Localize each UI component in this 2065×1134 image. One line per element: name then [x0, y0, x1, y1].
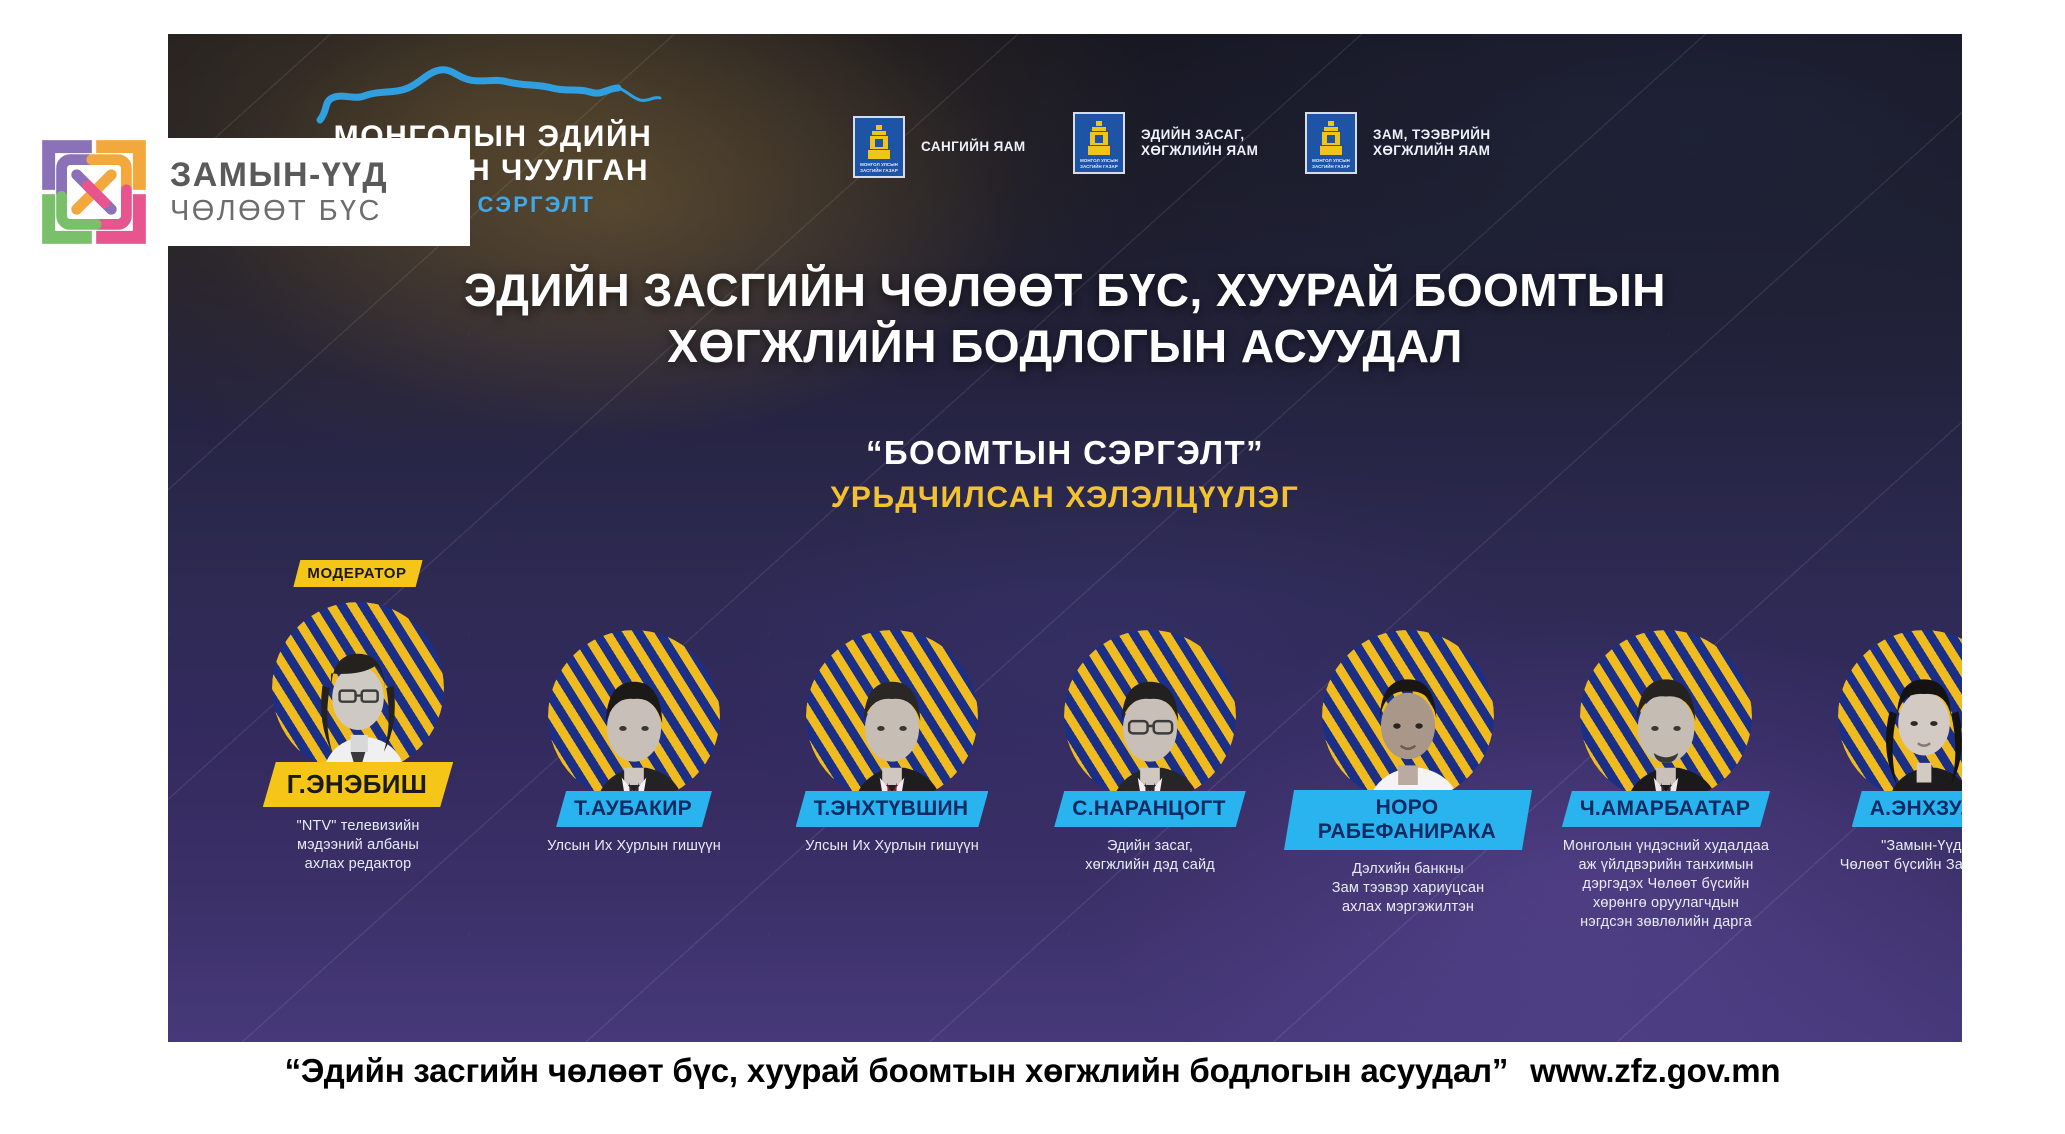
- speaker-photo: [548, 630, 720, 802]
- ministry-label: ЭДИЙН ЗАСАГ, ХӨГЖЛИЙН ЯАМ: [1141, 127, 1258, 159]
- portrait-avatar: [1861, 640, 1962, 802]
- portrait-avatar: [1603, 640, 1729, 802]
- portrait-avatar: [571, 640, 697, 802]
- caption-url: www.zfz.gov.mn: [1530, 1052, 1780, 1089]
- emblem-text: МОНГОЛ УЛСЫН ЗАСГИЙН ГАЗАР: [855, 162, 903, 173]
- zfz-logo-title: ЗАМЫН-ҮҮД: [170, 156, 470, 194]
- speaker-role: Улсын Их Хурлын гишүүн: [768, 837, 1016, 856]
- speaker-card-7: А.ЭНХЗУЛ "Замын-Үүд" Чөлөөт бүсийн Захир…: [1800, 630, 1962, 875]
- speaker-role: Дэлхийн банкны Зам тээвэр хариуцсан ахла…: [1284, 860, 1532, 917]
- speaker-photo: [806, 630, 978, 802]
- page-caption: “Эдийн засгийн чөлөөт бүс, хуурай боомты…: [0, 1052, 2065, 1090]
- speaker-role: Улсын Их Хурлын гишүүн: [510, 837, 758, 856]
- speaker-card-6: Ч.АМАРБААТАР Монголын үндэсний худалдаа …: [1542, 630, 1790, 932]
- zfz-logo-subtitle: ЧӨЛӨӨТ БҮС: [170, 194, 470, 228]
- banner-subtitle-secondary: УРЬДЧИЛСАН ХЭЛЭЛЦҮҮЛЭГ: [168, 481, 1962, 515]
- zfz-logo: ЗАМЫН-ҮҮД ЧӨЛӨӨТ БҮС: [40, 138, 470, 246]
- zfz-logo-text: ЗАМЫН-ҮҮД ЧӨЛӨӨТ БҮС: [148, 138, 470, 246]
- ministry-item-transport: МОНГОЛ УЛСЫН ЗАСГИЙН ГАЗАР ЗАМ, ТЭЭВРИЙН…: [1305, 112, 1491, 174]
- portrait-avatar: [295, 612, 421, 774]
- soyombo-symbol-icon: [1088, 121, 1110, 155]
- speaker-photo: [272, 602, 444, 774]
- speaker-card-3: Т.ЭНХТҮВШИН Улсын Их Хурлын гишүүн: [768, 630, 1016, 856]
- speaker-name: А.ЭНХЗУЛ: [1852, 791, 1962, 827]
- speaker-name: С.НАРАНЦОГТ: [1054, 791, 1246, 827]
- speaker-role: Эдийн засаг, хөгжлийн дэд сайд: [1026, 837, 1274, 875]
- moderator-badge: МОДЕРАТОР: [293, 560, 422, 587]
- government-emblem-icon: МОНГОЛ УЛСЫН ЗАСГИЙН ГАЗАР: [853, 116, 905, 178]
- soyombo-symbol-icon: [1320, 121, 1342, 155]
- portrait-avatar: [1087, 640, 1213, 802]
- speaker-photo: [1580, 630, 1752, 802]
- ministry-label: САНГИЙН ЯАМ: [921, 139, 1026, 155]
- speaker-card-moderator: МОДЕРАТОР Г: [234, 602, 482, 874]
- speaker-list: МОДЕРАТОР Г: [168, 554, 1962, 984]
- page-root: МОНГОЛЫН ЭДИЙН ЗАСГИЙН ЧУУЛГАН ШИНЭ СЭРГ…: [0, 0, 2065, 1134]
- speaker-role: Монголын үндэсний худалдаа аж үйлдвэрийн…: [1542, 837, 1790, 932]
- speaker-card-2: Т.АУБАКИР Улсын Их Хурлын гишүүн: [510, 630, 758, 856]
- speaker-role: "NTV" телевизийн мэдээний албаны ахлах р…: [234, 817, 482, 874]
- speaker-card-4: С.НАРАНЦОГТ Эдийн засаг, хөгжлийн дэд са…: [1026, 630, 1274, 875]
- caption-text: “Эдийн засгийн чөлөөт бүс, хуурай боомты…: [285, 1052, 1509, 1089]
- speaker-card-5: НОРО РАБЕФАНИРАКА Дэлхийн банкны Зам тээ…: [1284, 630, 1532, 917]
- portrait-avatar: [829, 640, 955, 802]
- banner-subtitle-quoted: “БООМТЫН СЭРГЭЛТ”: [168, 434, 1962, 472]
- ministry-item-finance: МОНГОЛ УЛСЫН ЗАСГИЙН ГАЗАР САНГИЙН ЯАМ: [853, 116, 1026, 178]
- emblem-text: МОНГОЛ УЛСЫН ЗАСГИЙН ГАЗАР: [1307, 158, 1355, 169]
- speaker-name: Г.ЭНЭБИШ: [263, 762, 453, 807]
- speaker-photo: [1322, 630, 1494, 802]
- speaker-photo: [1838, 630, 1962, 802]
- government-emblem-icon: МОНГОЛ УЛСЫН ЗАСГИЙН ГАЗАР: [1305, 112, 1357, 174]
- ministry-item-economy: МОНГОЛ УЛСЫН ЗАСГИЙН ГАЗАР ЭДИЙН ЗАСАГ, …: [1073, 112, 1258, 174]
- speaker-role: "Замын-Үүд" Чөлөөт бүсийн Захирагч: [1800, 837, 1962, 875]
- portrait-avatar: [1345, 640, 1471, 802]
- emblem-text: МОНГОЛ УЛСЫН ЗАСГИЙН ГАЗАР: [1075, 158, 1123, 169]
- government-emblem-icon: МОНГОЛ УЛСЫН ЗАСГИЙН ГАЗАР: [1073, 112, 1125, 174]
- speaker-name: Ч.АМАРБААТАР: [1562, 791, 1770, 827]
- speaker-name: Т.ЭНХТҮВШИН: [796, 791, 989, 827]
- interlocking-knot-logo-icon: [40, 138, 148, 246]
- speaker-name: НОРО РАБЕФАНИРАКА: [1284, 790, 1532, 850]
- speaker-name: Т.АУБАКИР: [556, 791, 712, 827]
- banner-title: ЭДИЙН ЗАСГИЙН ЧӨЛӨӨТ БҮС, ХУУРАЙ БООМТЫН…: [168, 262, 1962, 374]
- ministry-label: ЗАМ, ТЭЭВРИЙН ХӨГЖЛИЙН ЯАМ: [1373, 127, 1491, 159]
- soyombo-symbol-icon: [868, 125, 890, 159]
- speaker-photo: [1064, 630, 1236, 802]
